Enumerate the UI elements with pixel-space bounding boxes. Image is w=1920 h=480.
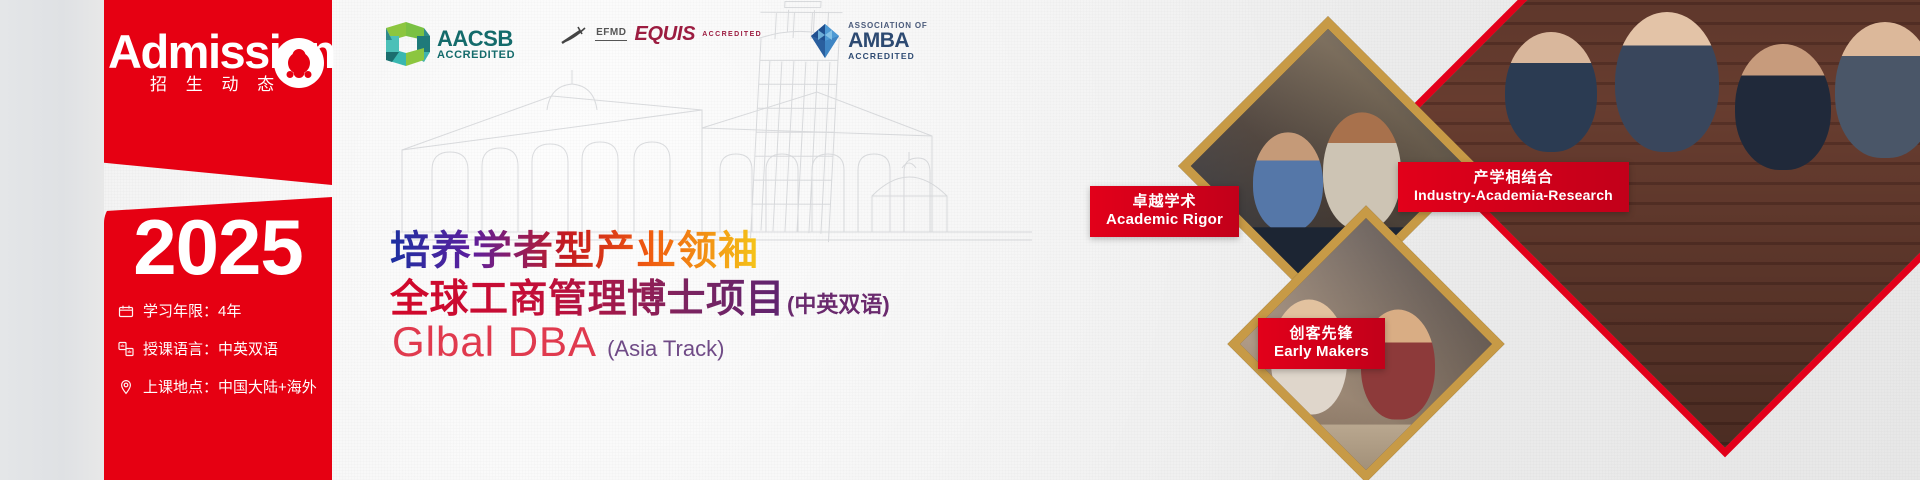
aacsb-logo: AACSB ACCREDITED — [386, 22, 515, 66]
program-title-cn: 全球工商管理博士项目 (中英双语) — [390, 268, 890, 324]
program-title-en: Glbal DBA (Asia Track) — [392, 318, 724, 366]
calendar-icon — [118, 303, 134, 319]
location-pin-icon — [118, 379, 134, 395]
program-title-cn-main: 全球工商管理博士项目 — [390, 268, 785, 324]
efmd-label: EFMD — [595, 28, 627, 41]
amba-name: AMBA — [848, 30, 928, 52]
highlight-3-cn: 创客先锋 — [1274, 325, 1369, 343]
amba-accredited: ACCREDITED — [848, 52, 928, 61]
students-discussion-photo — [1393, 0, 1920, 457]
equis-name: EQUIS — [634, 24, 695, 45]
accreditation-logos: AACSB ACCREDITED EFMD EQUIS ACCREDITED — [386, 22, 928, 66]
program-title-en-main: Glbal DBA — [392, 318, 597, 366]
program-title-en-sub: (Asia Track) — [607, 336, 724, 362]
highlight-2-en: Industry-Academia-Research — [1414, 187, 1613, 204]
amba-logo: ASSOCIATION OF AMBA ACCREDITED — [808, 22, 928, 61]
program-facts-list: 学习年限：4年 授课语言：中英双语 上课地点：中国大陆+海外 — [118, 300, 333, 414]
amba-diamond-icon — [808, 23, 842, 59]
person-circle-icon-inner — [288, 52, 310, 74]
admission-logo-subtitle: 招 生 动 态 — [150, 70, 281, 95]
aacsb-pinwheel-icon — [386, 22, 430, 66]
person-circle-icon — [274, 38, 324, 88]
fact-duration-label: 学习年限：4年 — [143, 300, 241, 321]
fact-location-label: 上课地点：中国大陆+海外 — [143, 376, 317, 397]
fact-location: 上课地点：中国大陆+海外 — [118, 376, 333, 397]
highlight-label-industry-academia: 产学相结合 Industry-Academia-Research — [1398, 162, 1629, 212]
equis-accredited: ACCREDITED — [702, 31, 762, 38]
left-edge-strip — [0, 0, 104, 480]
admission-logo: Admission 招 生 动 态 — [108, 28, 348, 108]
program-title-cn-paren: (中英双语) — [787, 287, 890, 319]
photo-collage — [1140, 0, 1920, 480]
year-label: 2025 — [104, 208, 332, 286]
highlight-1-cn: 卓越学术 — [1106, 193, 1223, 211]
highlight-2-cn: 产学相结合 — [1414, 169, 1613, 187]
aacsb-name: AACSB — [437, 27, 515, 50]
highlight-label-early-makers: 创客先锋 Early Makers — [1258, 318, 1385, 369]
equis-logo: EFMD EQUIS ACCREDITED — [561, 22, 762, 45]
aacsb-accredited: ACCREDITED — [437, 50, 515, 62]
language-icon — [118, 341, 134, 357]
highlight-3-en: Early Makers — [1274, 343, 1369, 361]
admission-banner: Admission 招 生 动 态 2025 学习年限：4年 — [0, 0, 1920, 480]
highlight-1-en: Academic Rigor — [1106, 211, 1223, 229]
efmd-swoosh-icon — [561, 25, 591, 45]
highlight-label-academic-rigor: 卓越学术 Academic Rigor — [1090, 186, 1239, 237]
fact-language: 授课语言：中英双语 — [118, 338, 333, 359]
fact-language-label: 授课语言：中英双语 — [143, 338, 278, 359]
fact-duration: 学习年限：4年 — [118, 300, 333, 321]
